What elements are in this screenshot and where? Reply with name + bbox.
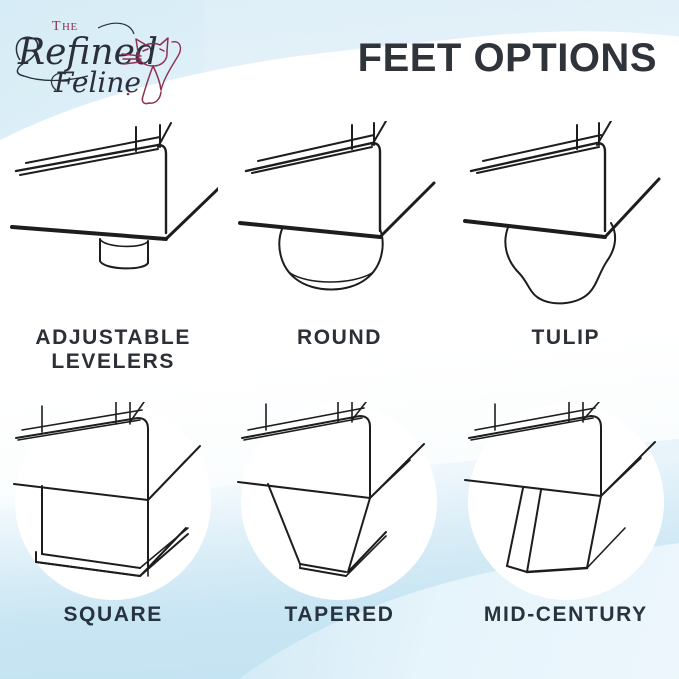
- tapered-foot-icon: [234, 402, 444, 598]
- option-art-wrap: [453, 399, 679, 601]
- adjustable-levelers-icon: [8, 121, 218, 317]
- page-title: FEET OPTIONS: [358, 38, 657, 78]
- option-art-wrap: [453, 118, 679, 320]
- mid-century-foot-icon: [461, 402, 671, 598]
- feet-options-infographic: T HE Refined Feline: [0, 0, 679, 679]
- round-foot-icon: [234, 121, 444, 317]
- square-foot-icon: [8, 402, 218, 598]
- option-card-round[interactable]: ROUND: [226, 118, 452, 399]
- option-card-tapered[interactable]: TAPERED: [226, 399, 452, 679]
- option-art-wrap: [226, 118, 452, 320]
- option-art-wrap: [0, 118, 226, 320]
- option-card-mid-century[interactable]: MID-CENTURY: [453, 399, 679, 679]
- tulip-foot-icon: [461, 121, 671, 317]
- option-label: MID-CENTURY: [484, 603, 648, 627]
- option-card-square[interactable]: SQUARE: [0, 399, 226, 679]
- option-label: TAPERED: [284, 603, 394, 627]
- brand-logo: T HE Refined Feline: [10, 8, 200, 106]
- header: T HE Refined Feline: [0, 0, 679, 118]
- option-art-wrap: [0, 399, 226, 601]
- option-art-wrap: [226, 399, 452, 601]
- option-label: SQUARE: [63, 603, 162, 627]
- option-label: ADJUSTABLE LEVELERS: [35, 326, 191, 373]
- option-label: TULIP: [531, 326, 600, 350]
- option-label: ROUND: [297, 326, 382, 350]
- option-card-tulip[interactable]: TULIP: [453, 118, 679, 399]
- options-grid: ADJUSTABLE LEVELERS: [0, 118, 679, 679]
- option-card-adjustable-levelers[interactable]: ADJUSTABLE LEVELERS: [0, 118, 226, 399]
